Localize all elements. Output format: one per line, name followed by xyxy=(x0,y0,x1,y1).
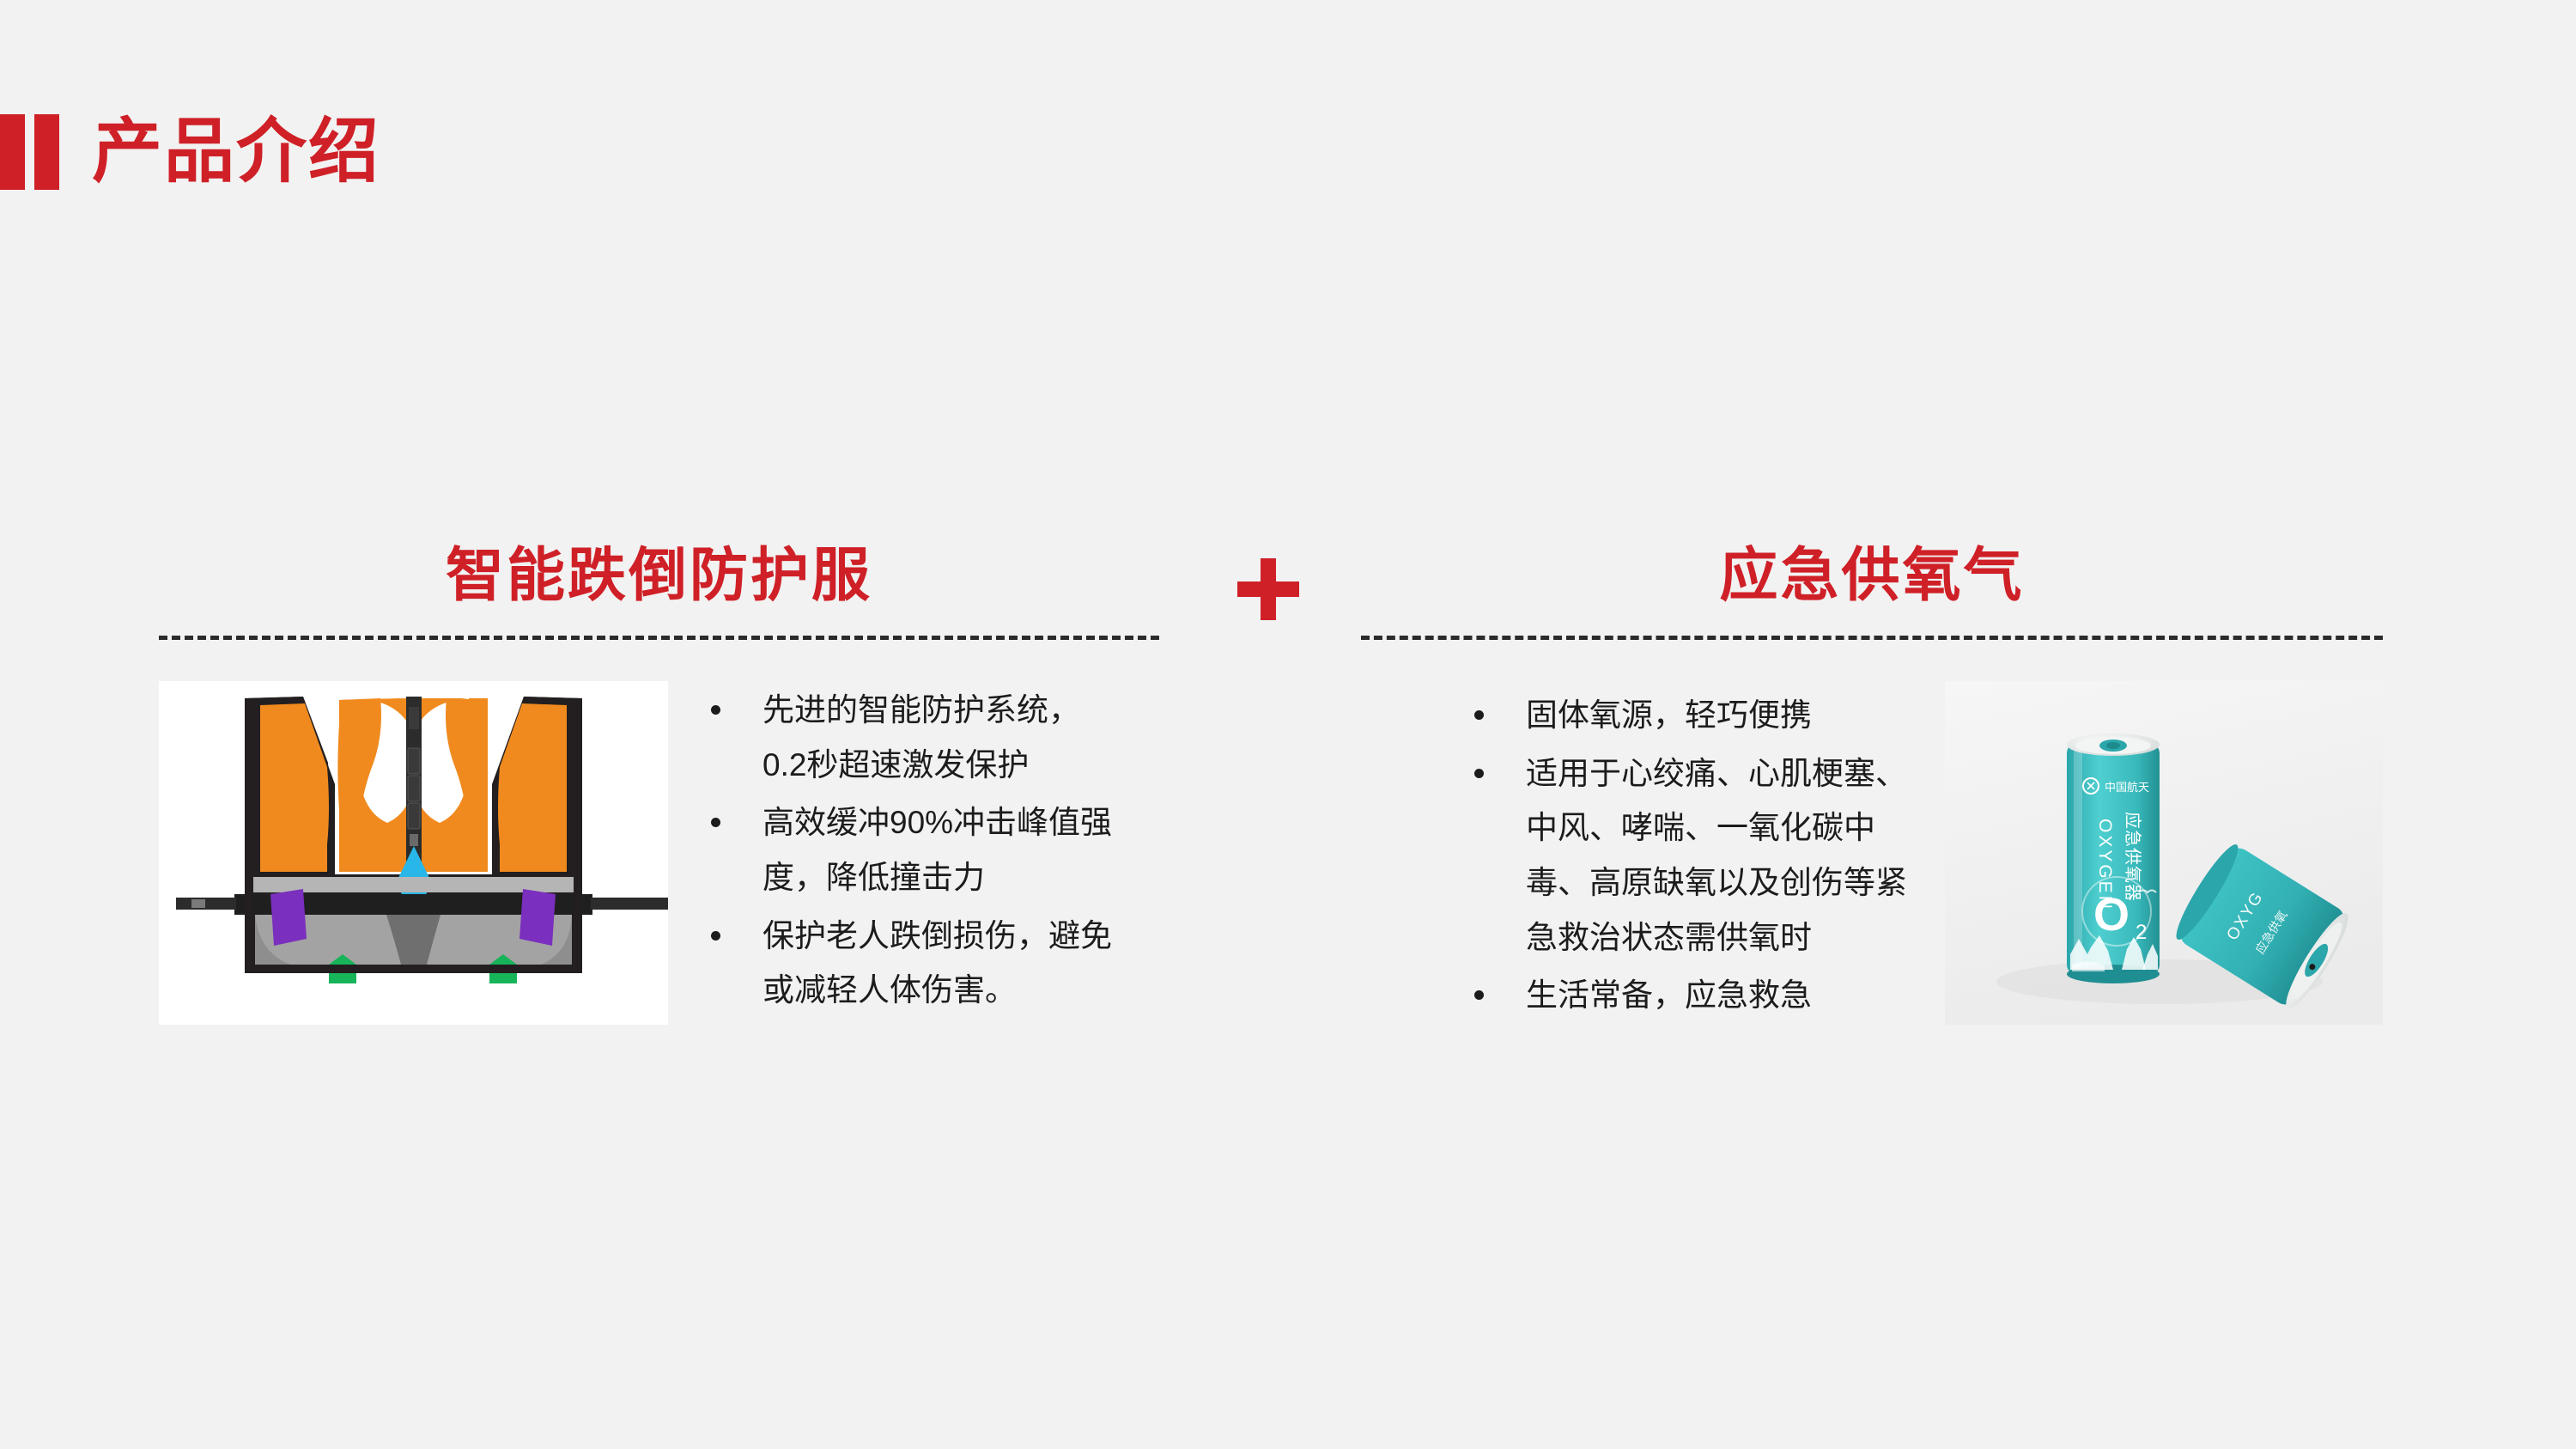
column-body-left: 先进的智能防护系统，0.2秒超速激发保护 高效缓冲90%冲击峰值强度，降低撞击力… xyxy=(159,681,1159,1025)
bullet-dot-icon xyxy=(711,931,720,941)
divider-right xyxy=(1361,636,2383,640)
list-item-text: 先进的智能防护系统，0.2秒超速激发保护 xyxy=(762,692,1080,782)
accent-bar-1 xyxy=(0,114,25,190)
svg-text:中国航天: 中国航天 xyxy=(2105,781,2149,794)
feature-list-left: 先进的智能防护系统，0.2秒超速激发保护 高效缓冲90%冲击峰值强度，降低撞击力… xyxy=(706,683,1118,1021)
list-item-text: 适用于心绞痛、心肌梗塞、中风、哮喘、一氧化碳中毒、高原缺氧以及创伤等紧急救治状态… xyxy=(1526,756,1907,955)
column-title-left: 智能跌倒防护服 xyxy=(159,533,1159,618)
list-item-text: 保护老人跌倒损伤，避免或减轻人体伤害。 xyxy=(762,918,1112,1008)
svg-text:O: O xyxy=(2093,889,2129,941)
product-column-fall-protection-suit: 智能跌倒防护服 xyxy=(159,533,1159,1025)
product-column-emergency-oxygen: 应急供氧气 xyxy=(1361,533,2383,1026)
list-item: 先进的智能防护系统，0.2秒超速激发保护 xyxy=(706,683,1118,792)
list-item: 固体氧源，轻巧便携 xyxy=(1469,688,1916,743)
list-item: 保护老人跌倒损伤，避免或减轻人体伤害。 xyxy=(706,909,1118,1018)
bullet-dot-icon xyxy=(711,705,720,715)
column-title-right: 应急供氧气 xyxy=(1361,533,2383,618)
accent-bar-2 xyxy=(34,114,59,190)
list-item-text: 固体氧源，轻巧便携 xyxy=(1526,697,1812,733)
bullet-dot-icon xyxy=(1474,769,1484,778)
bullet-dot-icon xyxy=(1474,990,1484,1000)
emergency-oxygen-cans-image: OXYG 应急供氧 xyxy=(1945,681,2383,1025)
column-body-right: OXYG 应急供氧 xyxy=(1361,681,2383,1026)
page-title: 产品介绍 xyxy=(92,117,380,187)
bullet-dot-icon xyxy=(1474,710,1484,720)
oxygen-cans-photo-svg: OXYG 应急供氧 xyxy=(1945,681,2383,1025)
header-accent-bars xyxy=(0,114,59,190)
list-item: 适用于心绞痛、心肌梗塞、中风、哮喘、一氧化碳中毒、高原缺氧以及创伤等紧急救治状态… xyxy=(1469,746,1916,965)
divider-left xyxy=(159,636,1159,640)
fall-protection-vest-image xyxy=(159,681,668,1025)
slide-header: 产品介绍 xyxy=(0,114,380,190)
feature-list-right: 固体氧源，轻巧便携 适用于心绞痛、心肌梗塞、中风、哮喘、一氧化碳中毒、高原缺氧以… xyxy=(1469,688,1916,1026)
vest-diagram-svg xyxy=(159,681,668,1025)
list-item: 生活常备，应急救急 xyxy=(1469,968,1916,1023)
svg-text:2: 2 xyxy=(2136,921,2147,944)
list-item: 高效缓冲90%冲击峰值强度，降低撞击力 xyxy=(706,795,1118,904)
content-area: 智能跌倒防护服 xyxy=(0,533,2576,1151)
bullet-dot-icon xyxy=(711,818,720,827)
list-item-text: 生活常备，应急救急 xyxy=(1526,977,1812,1013)
list-item-text: 高效缓冲90%冲击峰值强度，降低撞击力 xyxy=(762,805,1112,895)
